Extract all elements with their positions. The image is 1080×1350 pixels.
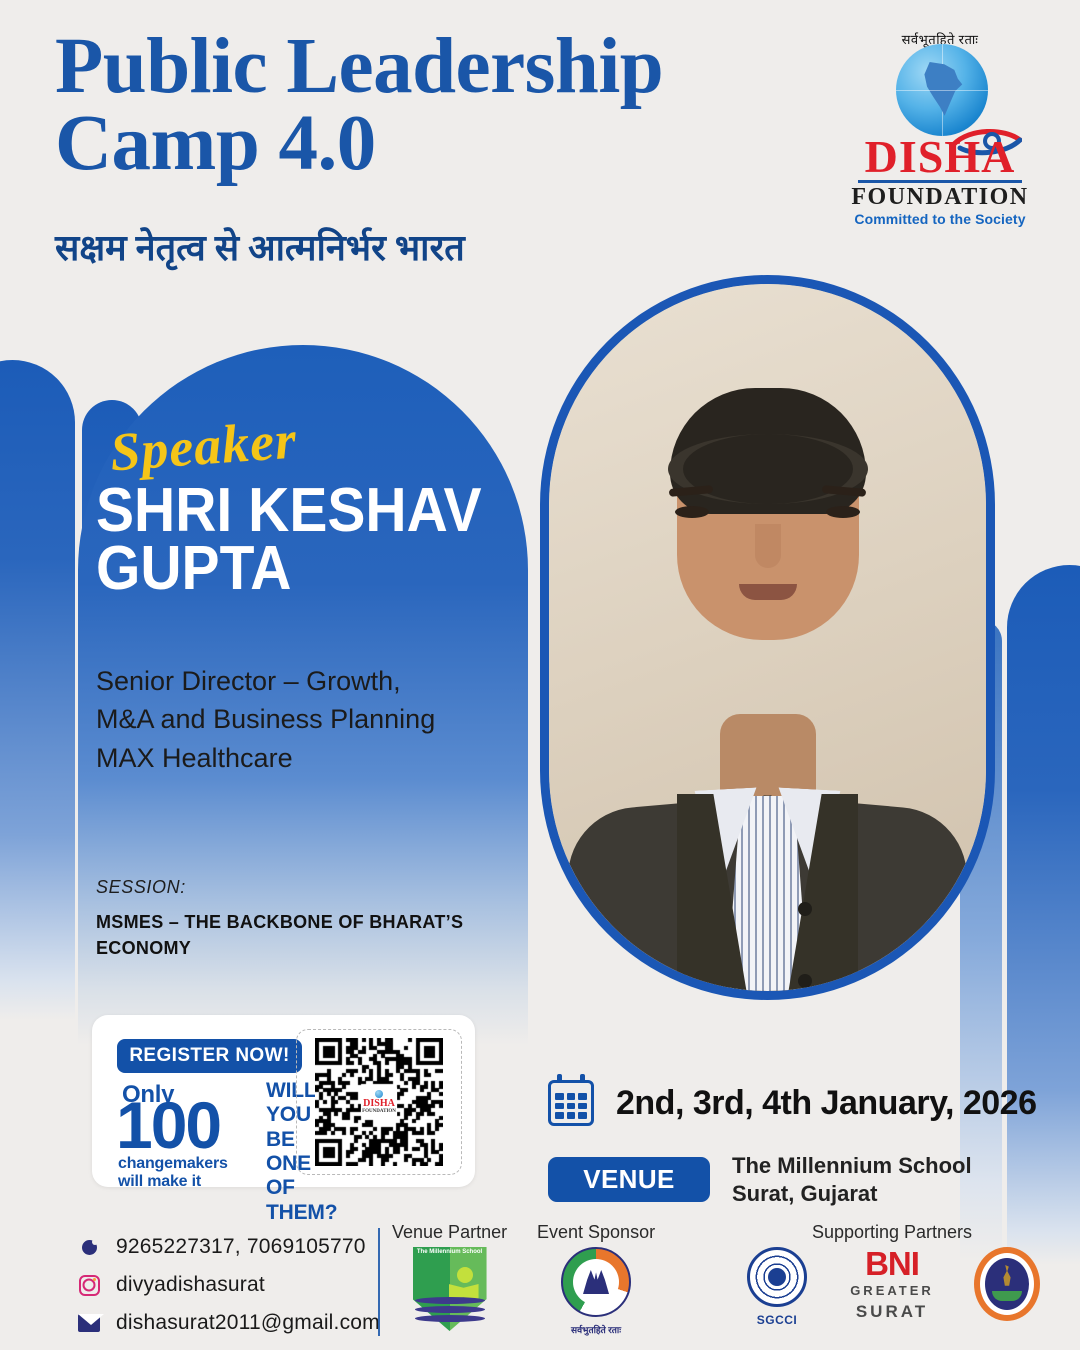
logo-divider <box>858 180 1022 183</box>
event-venue-row: VENUE The Millennium School Surat, Gujar… <box>548 1152 972 1207</box>
decorative-arch-right-outer <box>1007 565 1080 1265</box>
qr-center-logo: DISHA FOUNDATION <box>361 1085 397 1119</box>
session-label: SESSION: <box>96 877 186 898</box>
supporting-partners-group: Supporting Partners SGCCI BNI GREATER SU… <box>704 1222 1080 1339</box>
changemakers-line-2: will make it <box>118 1173 263 1191</box>
speaker-photo-frame <box>540 275 995 1000</box>
subtitle-hindi: सक्षम नेतृत्व से आत्मनिर्भर भारत <box>55 222 465 271</box>
instagram-icon <box>78 1274 100 1296</box>
venue-partner-group: Venue Partner The Millennium School <box>392 1222 507 1331</box>
poster-header: Public Leadership Camp 4.0 सक्षम नेतृत्व… <box>0 0 1080 290</box>
sgcci-name: SGCCI <box>740 1313 814 1327</box>
qr-logo-brand: DISHA <box>363 1099 395 1109</box>
event-date-row: 2nd, 3rd, 4th January, 2026 <box>548 1080 1037 1126</box>
bni-greater-text: GREATER <box>840 1283 944 1298</box>
title-line-1: Public Leadership <box>55 28 815 105</box>
register-seat-count: 100 <box>116 1097 220 1154</box>
venue-line-1: The Millennium School <box>732 1152 972 1180</box>
partners-section: Venue Partner The Millennium School Even… <box>392 1222 1080 1350</box>
venue-partner-label: Venue Partner <box>392 1222 507 1243</box>
logo-brand-text: DISHA <box>840 134 1040 180</box>
contact-instagram-row[interactable]: divyadishasurat <box>78 1266 380 1304</box>
decorative-arch-left-outer <box>0 360 75 1020</box>
question-line-5: OF <box>266 1176 346 1200</box>
vertical-divider <box>378 1228 380 1336</box>
speaker-portrait-image <box>549 284 986 991</box>
contact-email-row[interactable]: dishasurat2011@gmail.com <box>78 1304 380 1342</box>
qr-code[interactable]: DISHA FOUNDATION <box>315 1038 443 1166</box>
question-line-6: THEM? <box>266 1201 346 1225</box>
speaker-eyebrow-label: Speaker <box>108 409 299 484</box>
speaker-role-line-2: M&A and Business Planning <box>96 700 526 738</box>
event-sponsor-motto: सर्वभुतहिते रताः <box>553 1323 639 1336</box>
india-map-icon <box>920 62 964 118</box>
page-title: Public Leadership Camp 4.0 <box>55 28 815 183</box>
title-line-2: Camp 4.0 <box>55 105 815 182</box>
venue-line-2: Surat, Gujarat <box>732 1180 972 1208</box>
calendar-icon <box>548 1080 594 1126</box>
venue-badge: VENUE <box>548 1157 710 1202</box>
globe-icon <box>896 44 988 136</box>
speaker-role-line-3: MAX Healthcare <box>96 739 526 777</box>
bni-greater-surat-logo: BNI GREATER SURAT <box>840 1247 944 1339</box>
qr-logo-org: FOUNDATION <box>362 1109 396 1114</box>
registration-card[interactable]: REGISTER NOW! Only 100 changemakers will… <box>92 1015 475 1187</box>
speaker-role: Senior Director – Growth, M&A and Busine… <box>96 662 526 777</box>
qr-code-container[interactable]: DISHA FOUNDATION <box>296 1029 462 1175</box>
speaker-name: SHRI KESHAV GUPTA <box>96 482 482 599</box>
event-sponsor-group: Event Sponsor सर्वभुतहिते रताः <box>537 1222 655 1339</box>
register-now-button[interactable]: REGISTER NOW! <box>117 1039 302 1073</box>
contact-phone-row[interactable]: 9265227317, 7069105770 <box>78 1228 380 1266</box>
supporting-partners-label: Supporting Partners <box>704 1222 1080 1243</box>
sgcci-logo: SGCCI <box>740 1247 814 1339</box>
contact-phone: 9265227317, 7069105770 <box>116 1235 366 1259</box>
navsarjan-pratishthan-logo: सर्वभुतहिते रताः <box>553 1247 639 1339</box>
millennium-school-name: The Millennium School <box>413 1249 487 1255</box>
contact-email: dishasurat2011@gmail.com <box>116 1311 380 1335</box>
venue-address: The Millennium School Surat, Gujarat <box>732 1152 972 1207</box>
contact-block: 9265227317, 7069105770 divyadishasurat d… <box>78 1228 380 1342</box>
event-sponsor-label: Event Sponsor <box>537 1222 655 1243</box>
phone-icon <box>78 1236 100 1258</box>
qr-logo-globe-icon <box>375 1090 383 1098</box>
contact-instagram: divyadishasurat <box>116 1273 265 1297</box>
disha-foundation-logo: सर्वभूतहिते रताः DISHA FOUNDATION Commit… <box>840 30 1040 225</box>
email-icon <box>78 1312 100 1334</box>
millennium-school-logo: The Millennium School <box>413 1247 487 1331</box>
changemakers-line-1: changemakers <box>118 1155 263 1173</box>
logo-tagline-text: Committed to the Society <box>840 211 1040 227</box>
session-title: MSMES – THE BACKBONE OF BHARAT’S ECONOMY <box>96 910 496 961</box>
bni-name: BNI <box>840 1247 944 1280</box>
logo-org-text: FOUNDATION <box>840 184 1040 211</box>
speaker-role-line-1: Senior Director – Growth, <box>96 662 526 700</box>
supporting-partner-emblem-logo <box>970 1247 1044 1325</box>
register-changemakers-text: changemakers will make it <box>118 1155 263 1191</box>
event-date: 2nd, 3rd, 4th January, 2026 <box>616 1084 1037 1123</box>
bni-surat-text: SURAT <box>840 1302 944 1322</box>
